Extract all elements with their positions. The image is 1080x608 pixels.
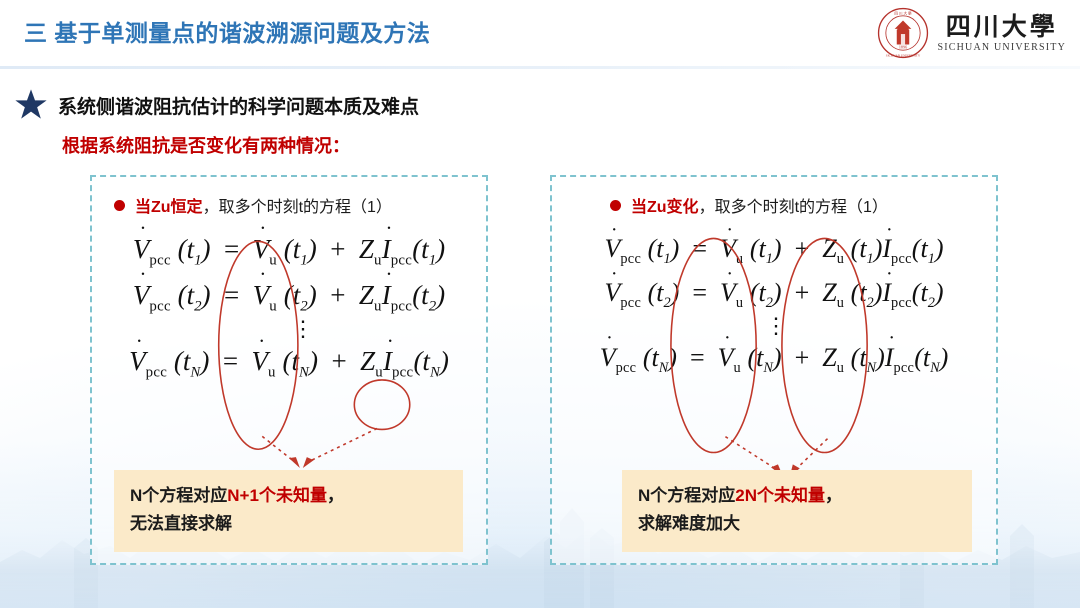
callout-right: N个方程对应2N个未知量， 求解难度加大 — [622, 470, 972, 552]
callout-line-2: 求解难度加大 — [638, 510, 956, 538]
panel-bullet-rest: ，取多个时刻t的方程（1） — [699, 193, 888, 217]
sichuan-university-seal-icon: 1896 四 川 大 學 SICHUAN UNIVERSITY — [877, 7, 929, 59]
equation-row: Vpcc (t2) = Vu (t2) + ZuIpcc(t2) — [92, 275, 486, 321]
equation-row: Vpcc (t1) = Vu (t1) + Zu (t1)Ipcc(t1) — [552, 229, 996, 273]
slide-header: 三 基于单测量点的谐波溯源问题及方法 1896 四 川 大 學 SICHUAN … — [0, 0, 1080, 66]
header-divider — [0, 66, 1080, 69]
logo-name-cn: 四川大學 — [946, 14, 1058, 39]
panel-bullet-highlight: 当Zu恒定 — [135, 193, 203, 217]
case-panel-varying-zu: 当Zu变化 ，取多个时刻t的方程（1） Vpcc (t1) = Vu (t1) … — [550, 175, 998, 565]
star-icon — [14, 88, 48, 122]
slide-root: 三 基于单测量点的谐波溯源问题及方法 1896 四 川 大 學 SICHUAN … — [0, 0, 1080, 608]
equation-row: Vpcc (t1) = Vu (t1) + ZuIpcc(t1) — [92, 229, 486, 275]
svg-text:1896: 1896 — [899, 45, 907, 50]
panel-bullet-left: 当Zu恒定 ，取多个时刻t的方程（1） — [114, 193, 392, 217]
callout-line-1-post: ， — [825, 486, 842, 505]
red-dot-icon — [114, 200, 125, 211]
equation-vertical-ellipsis: ⋮ — [552, 318, 996, 338]
equation-row: Vpcc (tN) = Vu (tN) + ZuIpcc(tN) — [92, 341, 486, 387]
callout-line-1: N个方程对应2N个未知量， — [638, 482, 956, 510]
page-title: 三 基于单测量点的谐波溯源问题及方法 — [24, 14, 430, 48]
equation-row: Vpcc (t2) = Vu (t2) + Zu (t2)Ipcc(t2) — [552, 273, 996, 317]
red-dot-icon — [610, 200, 621, 211]
callout-line-1-pre: N个方程对应 — [130, 486, 227, 505]
callout-line-1-highlight: N+1个未知量 — [227, 486, 327, 505]
panel-bullet-right: 当Zu变化 ，取多个时刻t的方程（1） — [610, 193, 888, 217]
sub-heading: 根据系统阻抗是否变化有两种情况： — [62, 132, 350, 158]
equation-vertical-ellipsis: ⋮ — [92, 321, 486, 341]
callout-line-2: 无法直接求解 — [130, 510, 447, 538]
panel-bullet-rest: ，取多个时刻t的方程（1） — [203, 193, 392, 217]
svg-text:SICHUAN UNIVERSITY: SICHUAN UNIVERSITY — [886, 53, 921, 57]
svg-text:四 川 大 學: 四 川 大 學 — [895, 10, 913, 15]
callout-line-1: N个方程对应N+1个未知量， — [130, 482, 447, 510]
callout-line-1-post: ， — [327, 486, 344, 505]
equation-row: Vpcc (tN) = Vu (tN) + Zu (tN)Ipcc(tN) — [552, 338, 996, 382]
logo-name-en: SICHUAN UNIVERSITY — [937, 43, 1066, 53]
equation-group-right: Vpcc (t1) = Vu (t1) + Zu (t1)Ipcc(t1) Vp… — [552, 229, 996, 382]
section-heading: 系统侧谐波阻抗估计的科学问题本质及难点 — [14, 88, 419, 122]
case-panel-constant-zu: 当Zu恒定 ，取多个时刻t的方程（1） Vpcc (t1) = Vu (t1) … — [90, 175, 488, 565]
equation-group-left: Vpcc (t1) = Vu (t1) + ZuIpcc(t1) Vpcc (t… — [92, 229, 486, 388]
university-logo: 1896 四 川 大 學 SICHUAN UNIVERSITY 四川大學 SIC… — [877, 4, 1066, 62]
section-heading-text: 系统侧谐波阻抗估计的科学问题本质及难点 — [58, 92, 419, 119]
callout-line-1-pre: N个方程对应 — [638, 486, 735, 505]
callout-left: N个方程对应N+1个未知量， 无法直接求解 — [114, 470, 463, 552]
panel-bullet-highlight: 当Zu变化 — [631, 193, 699, 217]
callout-line-1-highlight: 2N个未知量 — [735, 486, 825, 505]
logo-wordmark: 四川大學 SICHUAN UNIVERSITY — [937, 14, 1066, 53]
